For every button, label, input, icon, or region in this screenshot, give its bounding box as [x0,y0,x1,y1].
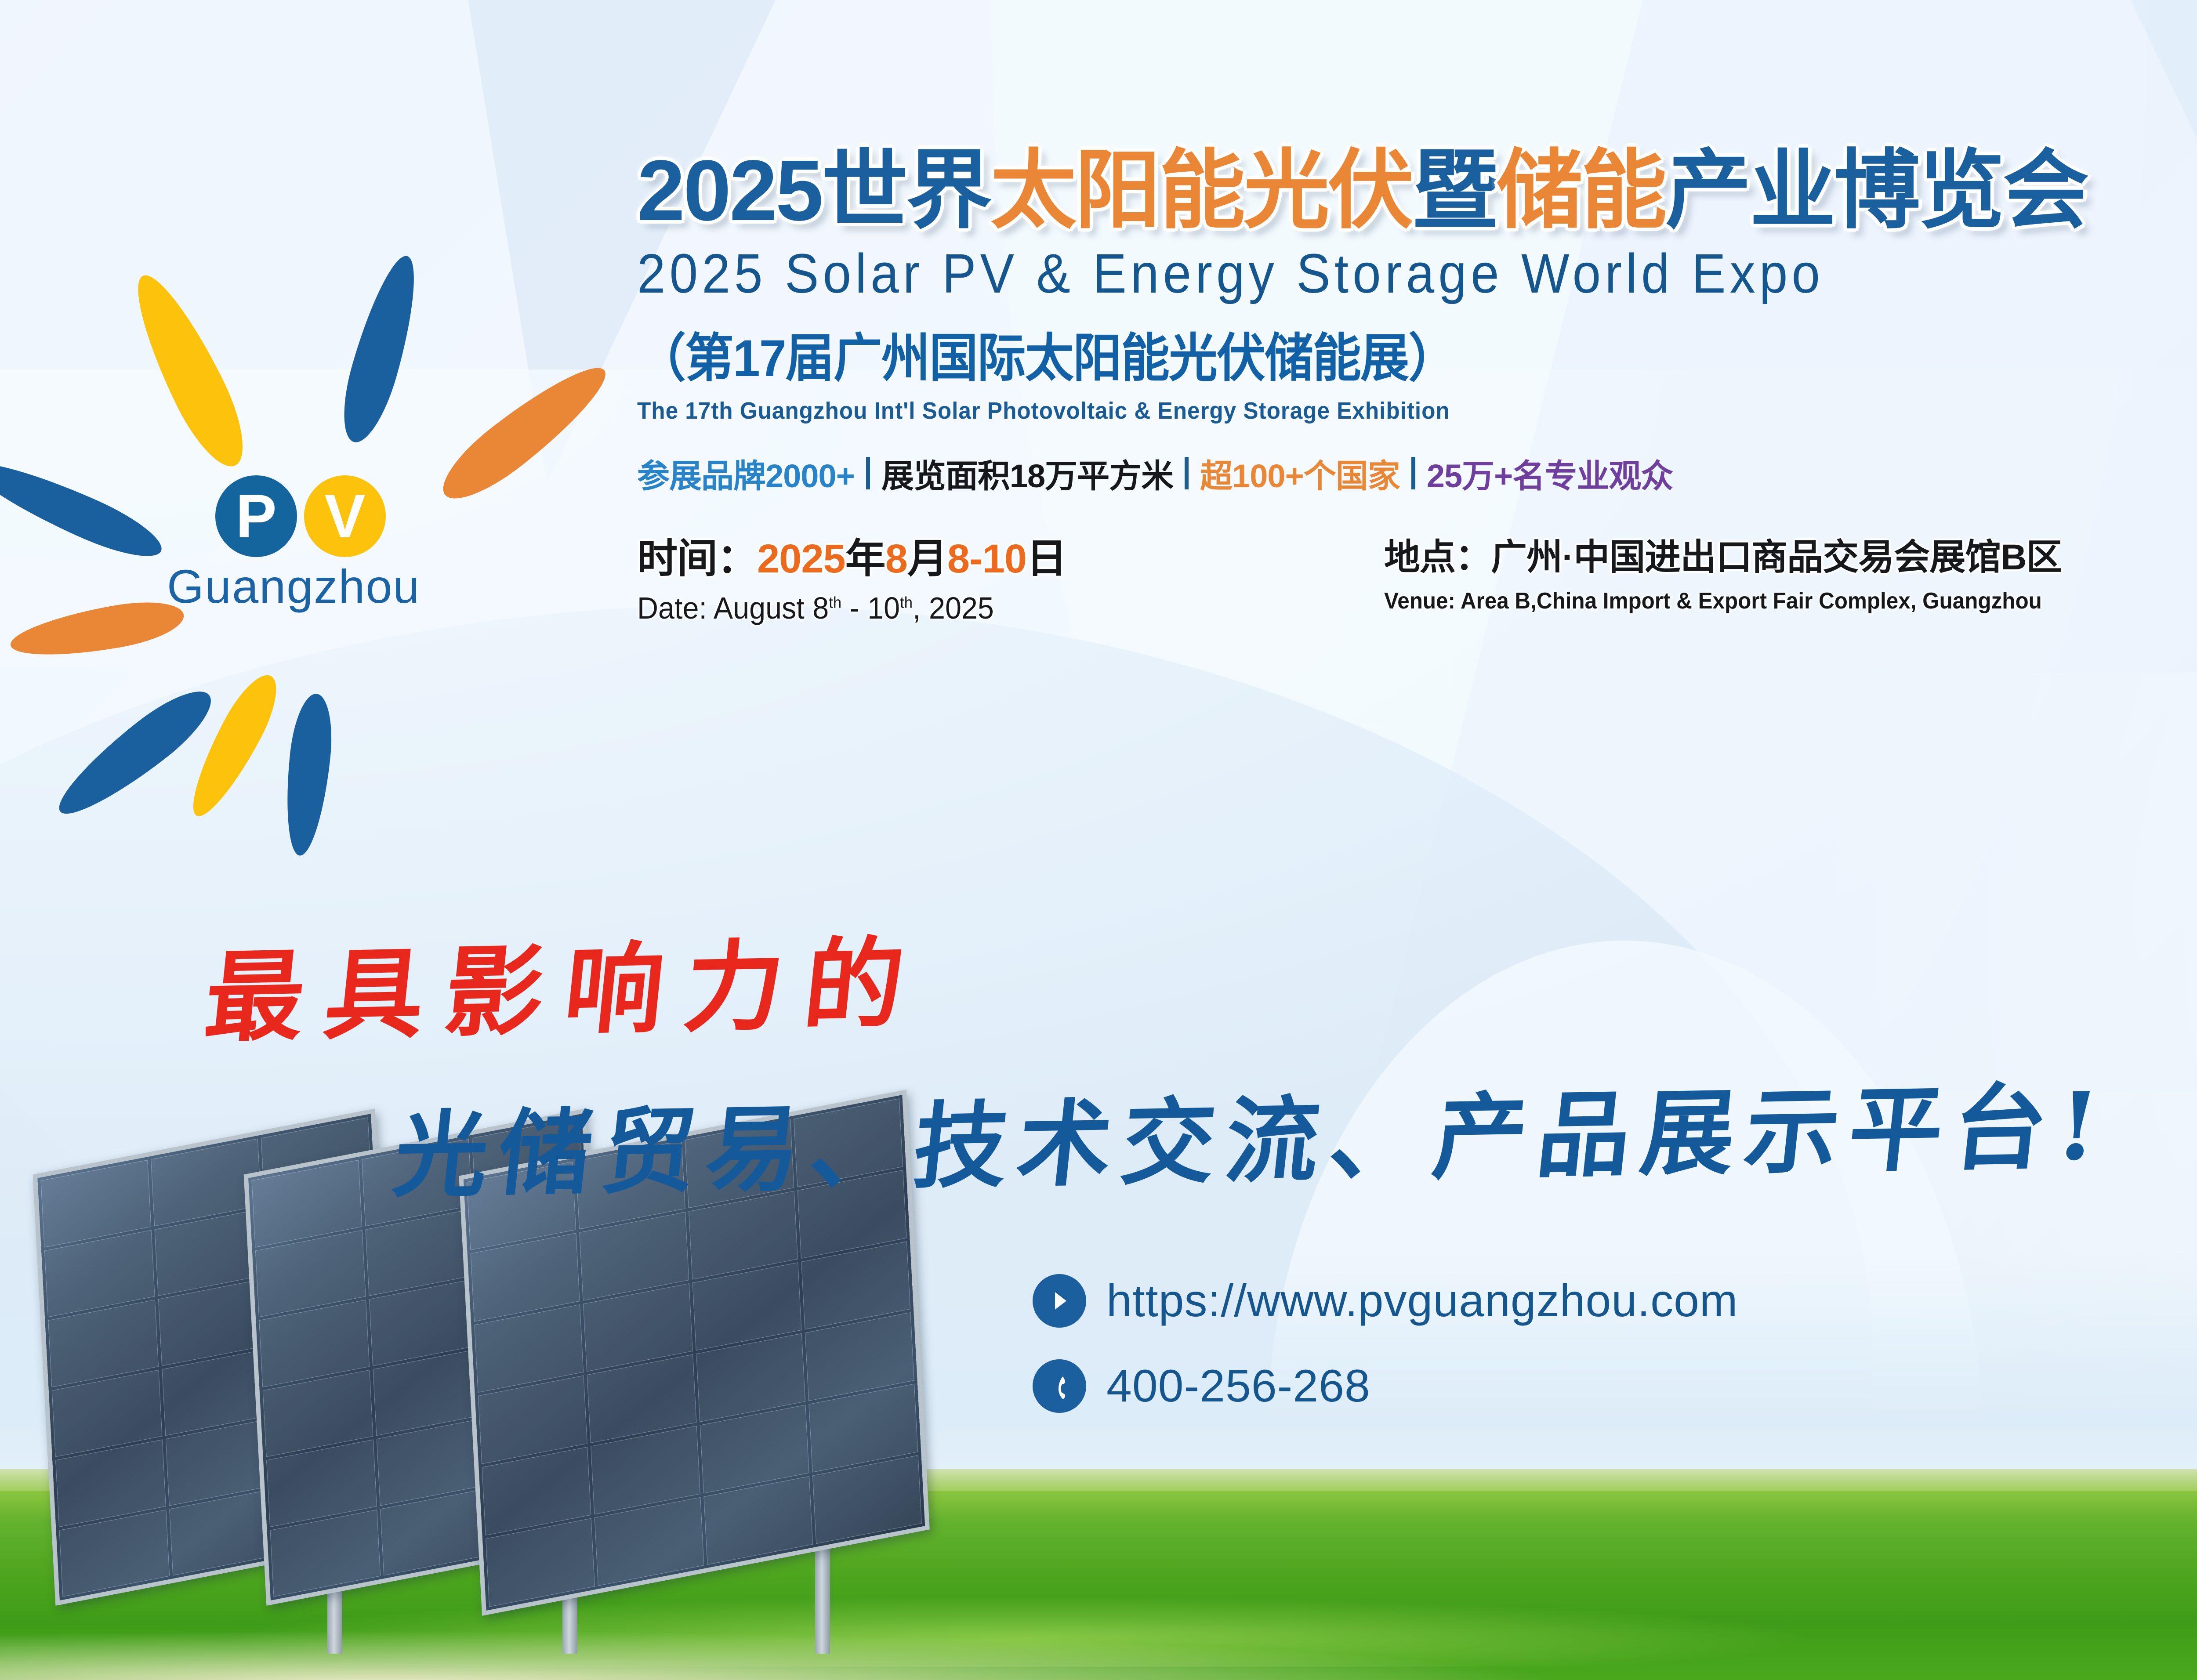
stats-bar: 参展品牌2000+ 展览面积18万平方米 超100+个国家 25万+名专业观众 [637,450,2197,497]
phone-number[interactable]: 400-256-268 [1106,1360,1370,1412]
stat-brands: 参展品牌2000+ [637,450,855,497]
event-title-cn: 2025世界太阳能光伏暨储能产业博览会 [637,145,2197,236]
venue-label-cn: 地点：广州·中国进出口商品交易会展馆B区 [1384,528,2077,580]
title-segment-5: 产业博览会 [1665,142,2087,239]
main-content: 2025世界太阳能光伏暨储能产业博览会 2025 Solar PV & Ener… [637,145,2197,626]
date-en-prefix: Date: August [637,591,812,625]
website-row[interactable]: https://www.pvguangzhou.com [1033,1274,1738,1328]
logo-city-label: Guangzhou [167,559,420,614]
stat-visitors: 25万+名专业观众 [1427,450,1673,497]
date-year: 2025 [757,536,845,581]
phone-row[interactable]: 400-256-268 [1033,1359,1738,1413]
date-day-unit: 日 [1026,536,1066,581]
title-segment-1: 2025世界 [637,142,990,239]
logo-letter-p: P [215,475,297,557]
logo-pv-letters: P V [215,475,386,557]
stat-divider [1411,457,1415,489]
date-label-cn: 时间：2025年8月8-10日 [637,526,1384,584]
solar-panel-array [4,1214,1103,1654]
date-days: 8-10 [947,536,1026,581]
venue-block: 地点：广州·中国进出口商品交易会展馆B区 Venue: Area B,China… [1384,526,2077,614]
event-title-en: 2025 Solar PV & Energy Storage World Exp… [637,242,2197,305]
stat-area: 展览面积18万平方米 [881,450,1173,497]
date-month-unit: 月 [907,536,947,581]
date-label-en: Date: August 8th - 10th, 2025 [637,590,1347,626]
date-en-sup2: th [900,593,913,611]
contact-block: https://www.pvguangzhou.com 400-256-268 [1033,1274,1738,1445]
title-segment-4: 储能 [1497,142,1665,239]
pv-guangzhou-logo: P V Guangzhou [57,180,562,628]
sunburst-petal [143,264,259,466]
stat-divider [866,457,870,489]
telephone-icon [1033,1359,1086,1413]
slogan-line-1: 最具影响力的 [199,903,932,1061]
panel-support-leg [815,1548,830,1654]
date-prefix-cn: 时间： [637,536,757,581]
event-subtitle-cn: （第17届广州国际太阳能光伏储能展） [637,316,2197,391]
event-subtitle-en: The 17th Guangzhou Int'l Solar Photovolt… [637,397,2197,424]
website-url[interactable]: https://www.pvguangzhou.com [1106,1275,1738,1327]
stat-countries: 超100+个国家 [1200,450,1400,497]
title-segment-3: 暨 [1412,142,1497,239]
stat-divider [1185,457,1189,489]
venue-label-en: Venue: Area B,China Import & Export Fair… [1384,588,2042,614]
play-arrow-icon [1033,1274,1086,1328]
sunburst-petal [354,256,429,448]
event-meta: 时间：2025年8月8-10日 Date: August 8th - 10th,… [637,526,2197,626]
date-en-suffix: , 2025 [913,591,994,625]
title-segment-2: 太阳能光伏 [990,142,1412,239]
date-en-sup1: th [829,593,841,611]
date-month: 8 [885,536,907,581]
date-en-day1: 8 [812,591,829,625]
logo-letter-v: V [304,475,386,557]
date-block: 时间：2025年8月8-10日 Date: August 8th - 10th,… [637,526,1384,626]
date-year-unit: 年 [845,536,885,581]
date-en-mid: - 10 [841,591,900,625]
